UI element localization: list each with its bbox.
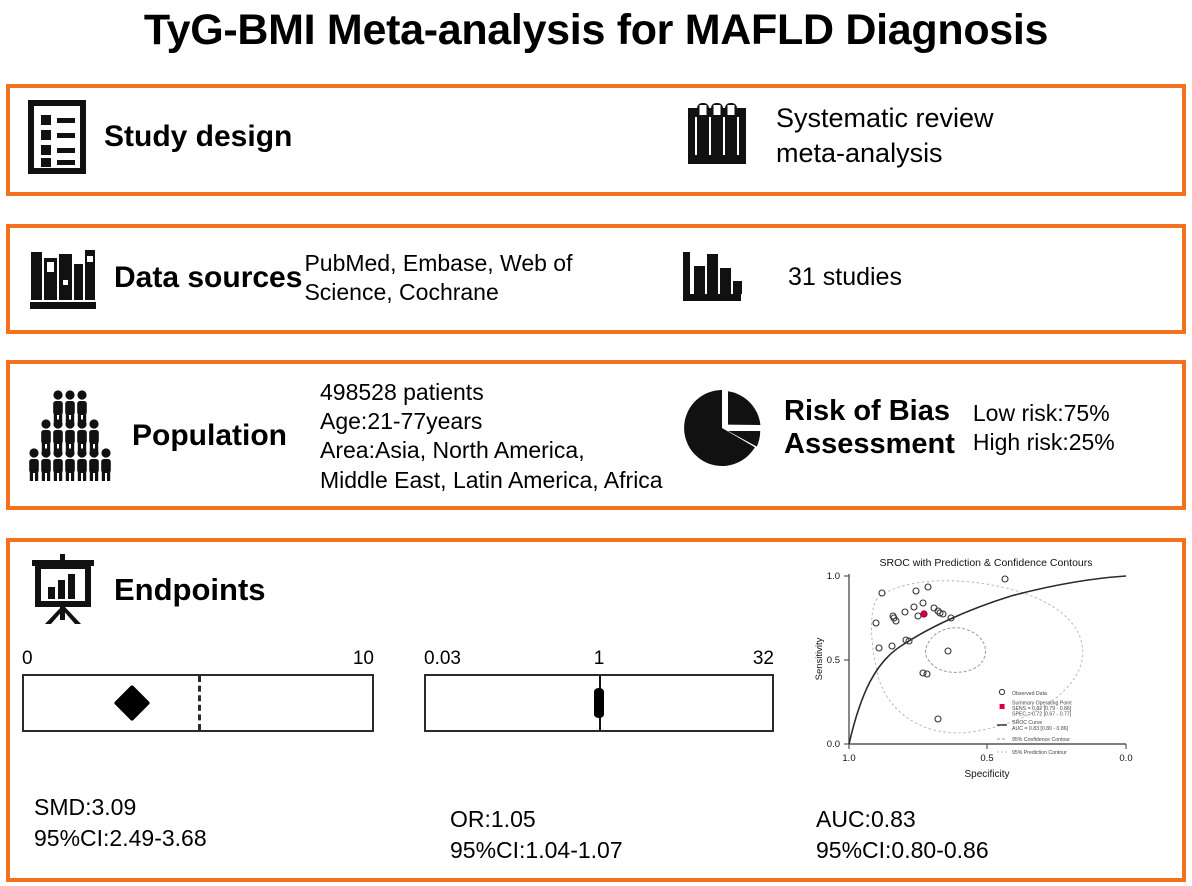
data-sources-heading: Data sources	[114, 262, 302, 294]
forest-or-axis: 0.03 1 32	[424, 648, 774, 670]
forest-plot-or: 0.03 1 32	[424, 648, 774, 732]
svg-text:Specificity: Specificity	[964, 769, 1009, 780]
bar-chart-icon	[678, 248, 748, 308]
svg-text:Sensitivity: Sensitivity	[814, 637, 825, 680]
data-sources-count-block: 31 studies	[678, 248, 902, 308]
forest-smd-box	[22, 674, 374, 732]
svg-text:95% Confidence Contour: 95% Confidence Contour	[1012, 737, 1070, 743]
forest-or-tick-max: 32	[753, 648, 774, 670]
population-details: 498528 patients Age:21-77years Area:Asia…	[320, 379, 663, 493]
population-heading: Population	[132, 420, 287, 452]
svg-text:0.0: 0.0	[827, 739, 840, 750]
study-design-label-block: Study design	[28, 100, 292, 174]
sroc-title: SROC with Prediction & Confidence Contou…	[879, 557, 1092, 569]
risk-of-bias-values: Low risk:75% High risk:25%	[973, 399, 1115, 457]
forest-smd-axis: 0 10	[22, 648, 374, 670]
sroc-confidence-contour	[925, 628, 985, 673]
endpoints-or-result: OR:1.05 95%CI:1.04-1.07	[450, 804, 623, 866]
forest-smd-tick-max: 10	[353, 648, 374, 670]
svg-text:1.0: 1.0	[827, 571, 840, 582]
sroc-observed-points	[873, 576, 1008, 722]
pie-chart-icon	[682, 388, 762, 468]
sroc-curve-chart: SROC with Prediction & Confidence Contou…	[806, 552, 1146, 784]
svg-text:0.5: 0.5	[980, 753, 993, 764]
endpoints-heading: Endpoints	[114, 574, 266, 607]
checklist-icon	[28, 100, 86, 174]
svg-text:0.5: 0.5	[827, 655, 840, 666]
forest-smd-diamond	[113, 685, 150, 722]
panel-population: Population 498528 patients Age:21-77year…	[6, 360, 1186, 510]
endpoints-auc-result: AUC:0.83 95%CI:0.80-0.86	[816, 804, 989, 866]
endpoints-smd-result: SMD:3.09 95%CI:2.49-3.68	[34, 792, 207, 854]
population-details-block: 498528 patients Age:21-77years Area:Asia…	[320, 378, 663, 495]
forest-or-diamond	[594, 688, 604, 718]
svg-text:Observed Data: Observed Data	[1012, 691, 1047, 697]
presentation-chart-icon	[28, 554, 98, 626]
forest-plot-smd: 0 10	[22, 648, 374, 732]
forest-or-tick-min: 0.03	[424, 648, 461, 670]
svg-text:1.0: 1.0	[842, 753, 855, 764]
sroc-curve-line	[849, 576, 1126, 744]
people-group-icon	[20, 386, 120, 486]
population-label-block: Population	[20, 386, 287, 486]
page-title: TyG-BMI Meta-analysis for MAFLD Diagnosi…	[0, 2, 1192, 58]
endpoints-label-block: Endpoints	[28, 554, 266, 626]
risk-of-bias-heading: Risk of Bias Assessment	[784, 395, 955, 462]
svg-text:AUC = 0.83 [0.80 - 0.86]: AUC = 0.83 [0.80 - 0.86]	[1012, 726, 1069, 732]
svg-text:0.0: 0.0	[1119, 753, 1132, 764]
books-icon	[24, 244, 102, 312]
sroc-summary-point	[921, 611, 927, 617]
panel-study-design: Study design Systematic review meta-anal…	[6, 84, 1186, 196]
svg-text:SPEC = 0.72 [0.67 - 0.77]: SPEC = 0.72 [0.67 - 0.77]	[1012, 712, 1072, 718]
study-design-heading: Study design	[104, 121, 292, 153]
data-sources-label-block: Data sources PubMed, Embase, Web of Scie…	[24, 244, 573, 312]
risk-of-bias-block: Risk of Bias Assessment Low risk:75% Hig…	[682, 388, 1115, 468]
study-design-value: Systematic review meta-analysis	[776, 101, 994, 171]
forest-or-box	[424, 674, 774, 732]
forest-smd-null-line	[198, 676, 201, 730]
test-tube-rack-icon	[680, 100, 754, 172]
data-sources-count: 31 studies	[788, 262, 902, 293]
study-design-value-block: Systematic review meta-analysis	[680, 100, 994, 172]
panel-data-sources: Data sources PubMed, Embase, Web of Scie…	[6, 224, 1186, 334]
forest-smd-tick-min: 0	[22, 648, 33, 670]
svg-text:95% Prediction Contour: 95% Prediction Contour	[1012, 750, 1067, 756]
data-sources-value: PubMed, Embase, Web of Science, Cochrane	[304, 249, 572, 307]
forest-or-tick-mid: 1	[594, 648, 605, 670]
